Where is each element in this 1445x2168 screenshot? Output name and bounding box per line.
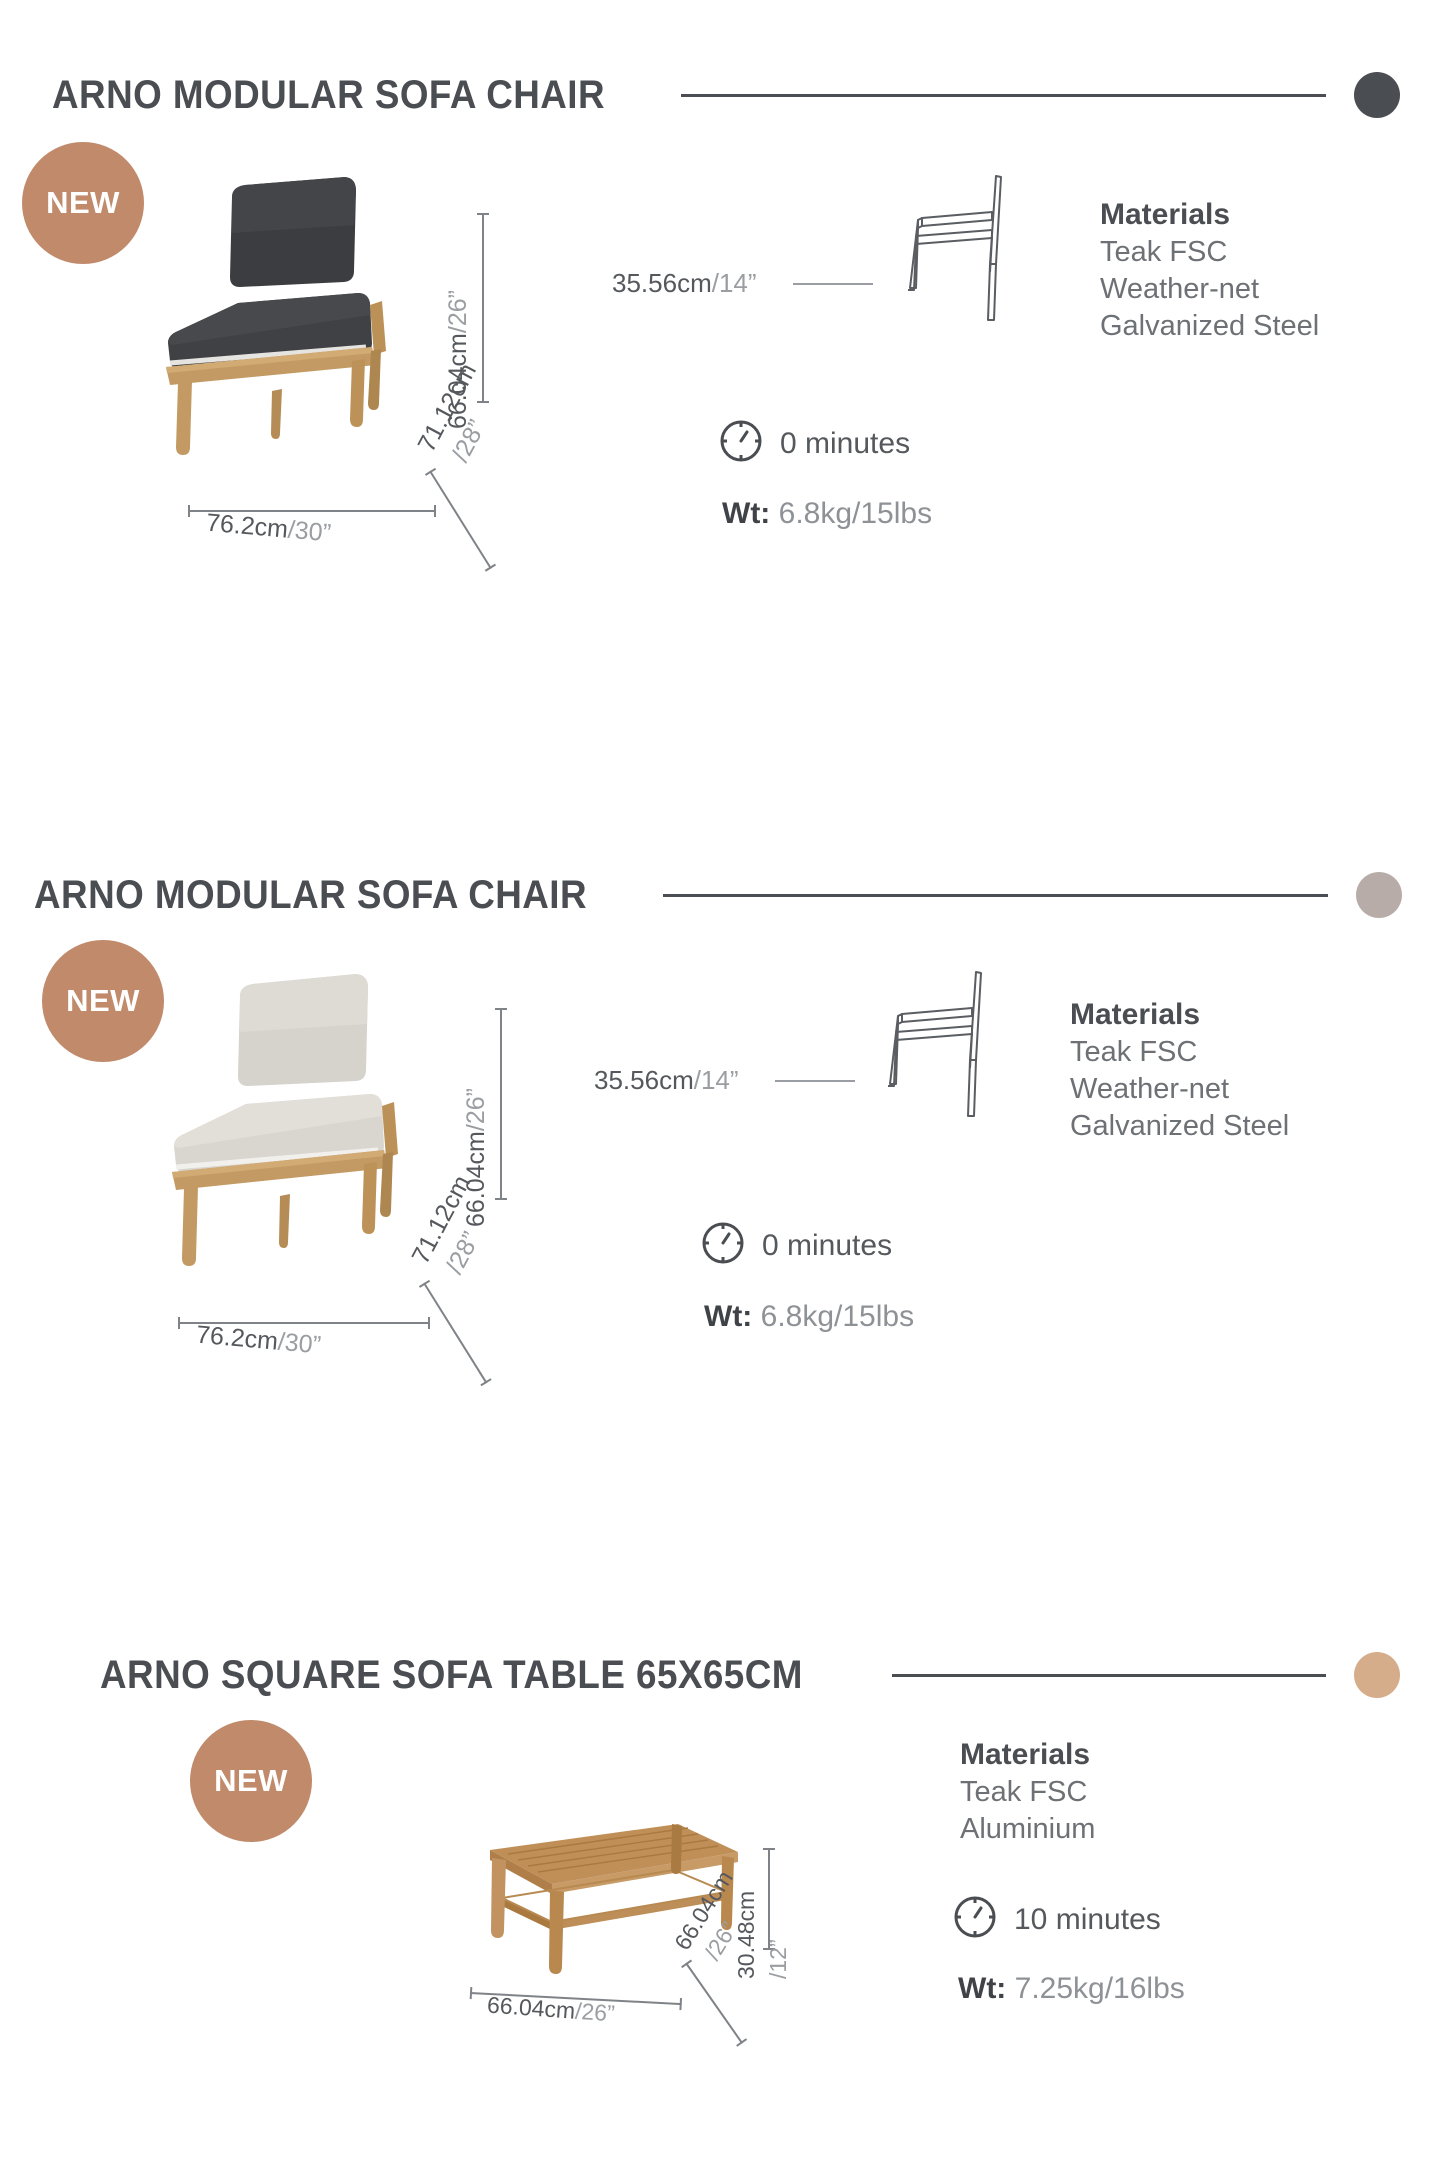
chair-blueprint-svg [880, 968, 1010, 1123]
weight-row: Wt: 7.25kg/16lbs [958, 1972, 1185, 2006]
materials-heading: Materials [960, 1738, 1095, 1772]
height-in: /26” [462, 1088, 490, 1131]
dimension-label-height-inches: /12” [765, 1939, 792, 1979]
blueprint-side-view [900, 172, 1030, 332]
materials-block: Materials Teak FSC Weather-net Galvanize… [1100, 198, 1319, 345]
new-badge: NEW [190, 1720, 312, 1842]
dimension-line-height [482, 213, 484, 403]
material-item: Aluminium [960, 1811, 1095, 1848]
new-badge: NEW [22, 142, 144, 264]
material-item: Weather-net [1070, 1071, 1289, 1108]
product-header: ARNO SQUARE SOFA TABLE 65X65CM [100, 1652, 1400, 1698]
color-swatch[interactable] [1356, 872, 1402, 918]
new-badge-label: NEW [46, 185, 120, 221]
header-divider [663, 894, 1328, 897]
header-divider [892, 1674, 1326, 1677]
material-item: Teak FSC [1070, 1034, 1289, 1071]
product-header: ARNO MODULAR SOFA CHAIR [52, 72, 1400, 118]
clock-icon [952, 1894, 998, 1945]
seat-height-in: /14” [712, 268, 757, 298]
color-swatch[interactable] [1354, 1652, 1400, 1698]
width-in: /30” [287, 516, 332, 548]
material-item: Teak FSC [1100, 234, 1319, 271]
assembly-time-row: 0 minutes [700, 1220, 892, 1271]
material-item: Galvanized Steel [1070, 1108, 1289, 1145]
width-cm: 76.2cm [195, 1321, 279, 1356]
blueprint-side-view [880, 968, 1010, 1128]
dimension-line-depth [429, 470, 492, 569]
width-cm: 76.2cm [205, 509, 289, 544]
lead-label-seat-height: 35.56cm/14” [612, 268, 757, 299]
page-title: ARNO MODULAR SOFA CHAIR [52, 73, 605, 118]
lead-line-seat-height [775, 1080, 855, 1082]
chair-photo-svg [120, 175, 440, 485]
materials-heading: Materials [1070, 998, 1289, 1032]
material-item: Weather-net [1100, 271, 1319, 308]
seat-height-in: /14” [694, 1065, 739, 1095]
assembly-time-row: 10 minutes [952, 1894, 1161, 1945]
width-in: /26” [574, 1998, 615, 2027]
new-badge: NEW [42, 940, 164, 1062]
new-badge-label: NEW [214, 1763, 288, 1799]
lead-line-seat-height [793, 283, 873, 285]
page-title: ARNO SQUARE SOFA TABLE 65X65CM [100, 1653, 803, 1698]
page-title: ARNO MODULAR SOFA CHAIR [34, 873, 587, 918]
seat-height-cm: 35.56cm [594, 1065, 694, 1095]
material-item: Galvanized Steel [1100, 308, 1319, 345]
product-card-arno-square-sofa-table: ARNO SQUARE SOFA TABLE 65X65CM NEW [0, 1590, 1445, 2168]
weight-row: Wt: 6.8kg/15lbs [722, 497, 932, 531]
height-in: /26” [444, 290, 472, 333]
product-photo-dark-chair [120, 175, 440, 485]
materials-heading: Materials [1100, 198, 1319, 232]
width-in: /30” [277, 1328, 322, 1360]
weight-label: Wt: [722, 497, 770, 530]
product-header: ARNO MODULAR SOFA CHAIR [34, 872, 1402, 918]
materials-block: Materials Teak FSC Weather-net Galvanize… [1070, 998, 1289, 1145]
weight-value: 6.8kg/15lbs [761, 1300, 914, 1333]
lead-label-seat-height: 35.56cm/14” [594, 1065, 739, 1096]
chair-blueprint-svg [900, 172, 1030, 327]
seat-height-cm: 35.56cm [612, 268, 712, 298]
assembly-time-label: 10 minutes [1014, 1903, 1161, 1937]
product-card-arno-modular-sofa-chair-dark: ARNO MODULAR SOFA CHAIR NEW [0, 0, 1445, 760]
materials-block: Materials Teak FSC Aluminium [960, 1738, 1095, 1848]
assembly-time-label: 0 minutes [762, 1229, 892, 1263]
width-cm: 66.04cm [486, 1992, 576, 2024]
color-swatch[interactable] [1354, 72, 1400, 118]
weight-label: Wt: [704, 1300, 752, 1333]
assembly-time-label: 0 minutes [780, 427, 910, 461]
dimension-line-height [500, 1008, 502, 1200]
dimension-label-width: 76.2cm/30” [195, 1321, 322, 1361]
header-divider [681, 94, 1326, 97]
dimension-label-width: 76.2cm/30” [205, 509, 332, 549]
weight-value: 7.25kg/16lbs [1015, 1972, 1185, 2005]
clock-icon [700, 1220, 746, 1271]
assembly-time-row: 0 minutes [718, 418, 910, 469]
weight-label: Wt: [958, 1972, 1006, 2005]
product-card-arno-modular-sofa-chair-light: ARNO MODULAR SOFA CHAIR NEW 66.04cm/26” [0, 800, 1445, 1570]
material-item: Teak FSC [960, 1774, 1095, 1811]
dimension-label-height: 66.04cm/26” [462, 1088, 491, 1227]
height-in: /12” [765, 1939, 791, 1979]
dimension-line-height [768, 1848, 770, 1950]
weight-value: 6.8kg/15lbs [779, 497, 932, 530]
new-badge-label: NEW [66, 983, 140, 1019]
weight-row: Wt: 6.8kg/15lbs [704, 1300, 914, 1334]
clock-icon [718, 418, 764, 469]
